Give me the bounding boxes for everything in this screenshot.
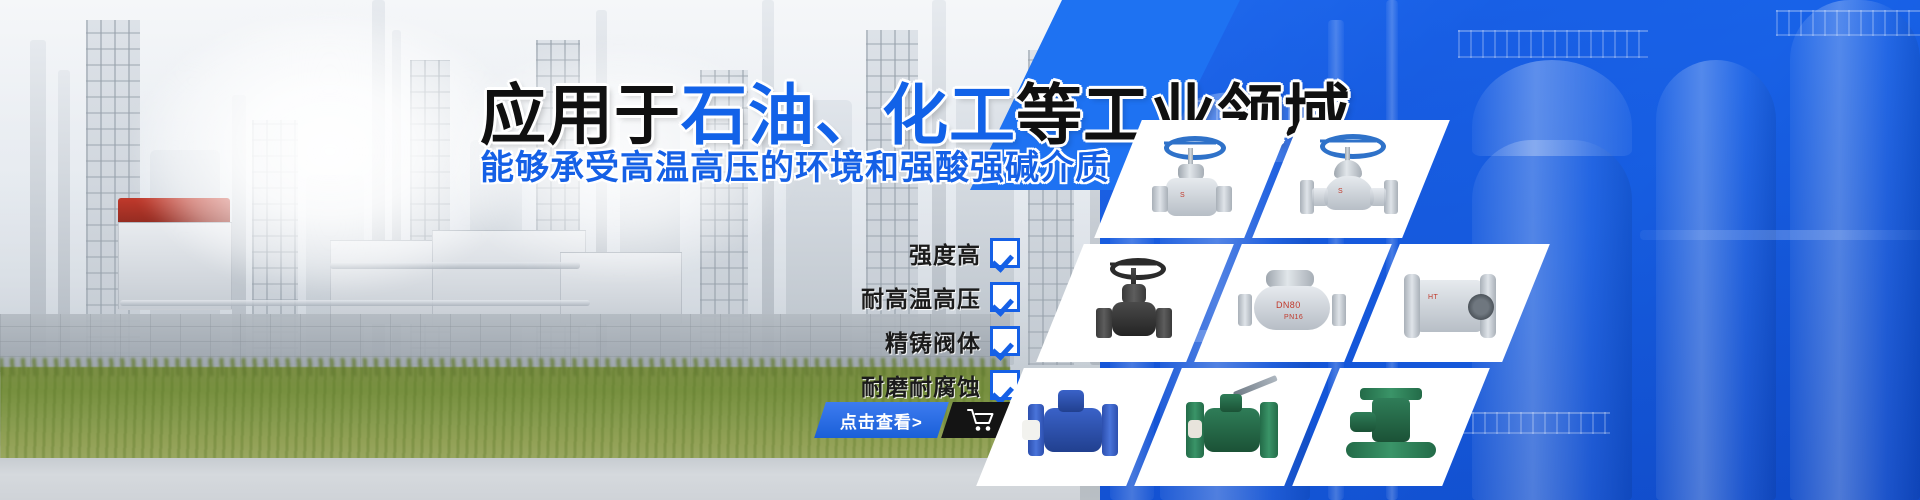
product-row-2: DN80 PN16 HT xyxy=(1060,244,1534,362)
foreground-road xyxy=(0,458,1080,500)
promo-banner: 应用于石油、化工等工业领域 能够承受高温高压的环境和强酸强碱介质 强度高 耐高温… xyxy=(0,0,1920,500)
feature-label: 耐磨耐腐蚀 xyxy=(861,368,981,402)
product-row-3 xyxy=(1000,368,1474,486)
valve-caption: DN80 xyxy=(1276,300,1301,310)
feature-label: 耐高温高压 xyxy=(861,280,981,314)
feature-item: 耐磨耐腐蚀 xyxy=(600,368,1020,402)
feature-list: 强度高 耐高温高压 精铸阀体 耐磨耐腐蚀 xyxy=(600,236,1020,412)
feature-item: 精铸阀体 xyxy=(600,324,1020,358)
view-details-button[interactable]: 点击查看> xyxy=(814,402,949,438)
feature-item: 耐高温高压 xyxy=(600,280,1020,314)
product-row-1: S S xyxy=(1118,120,1434,238)
feature-label: 强度高 xyxy=(909,236,981,270)
feature-item: 强度高 xyxy=(600,236,1020,270)
cta-group[interactable]: 点击查看> xyxy=(820,402,1017,438)
product-grid: S S xyxy=(1000,120,1540,490)
shopping-cart-icon xyxy=(967,407,997,433)
feature-label: 精铸阀体 xyxy=(885,324,981,358)
cta-label: 点击查看> xyxy=(840,408,923,433)
